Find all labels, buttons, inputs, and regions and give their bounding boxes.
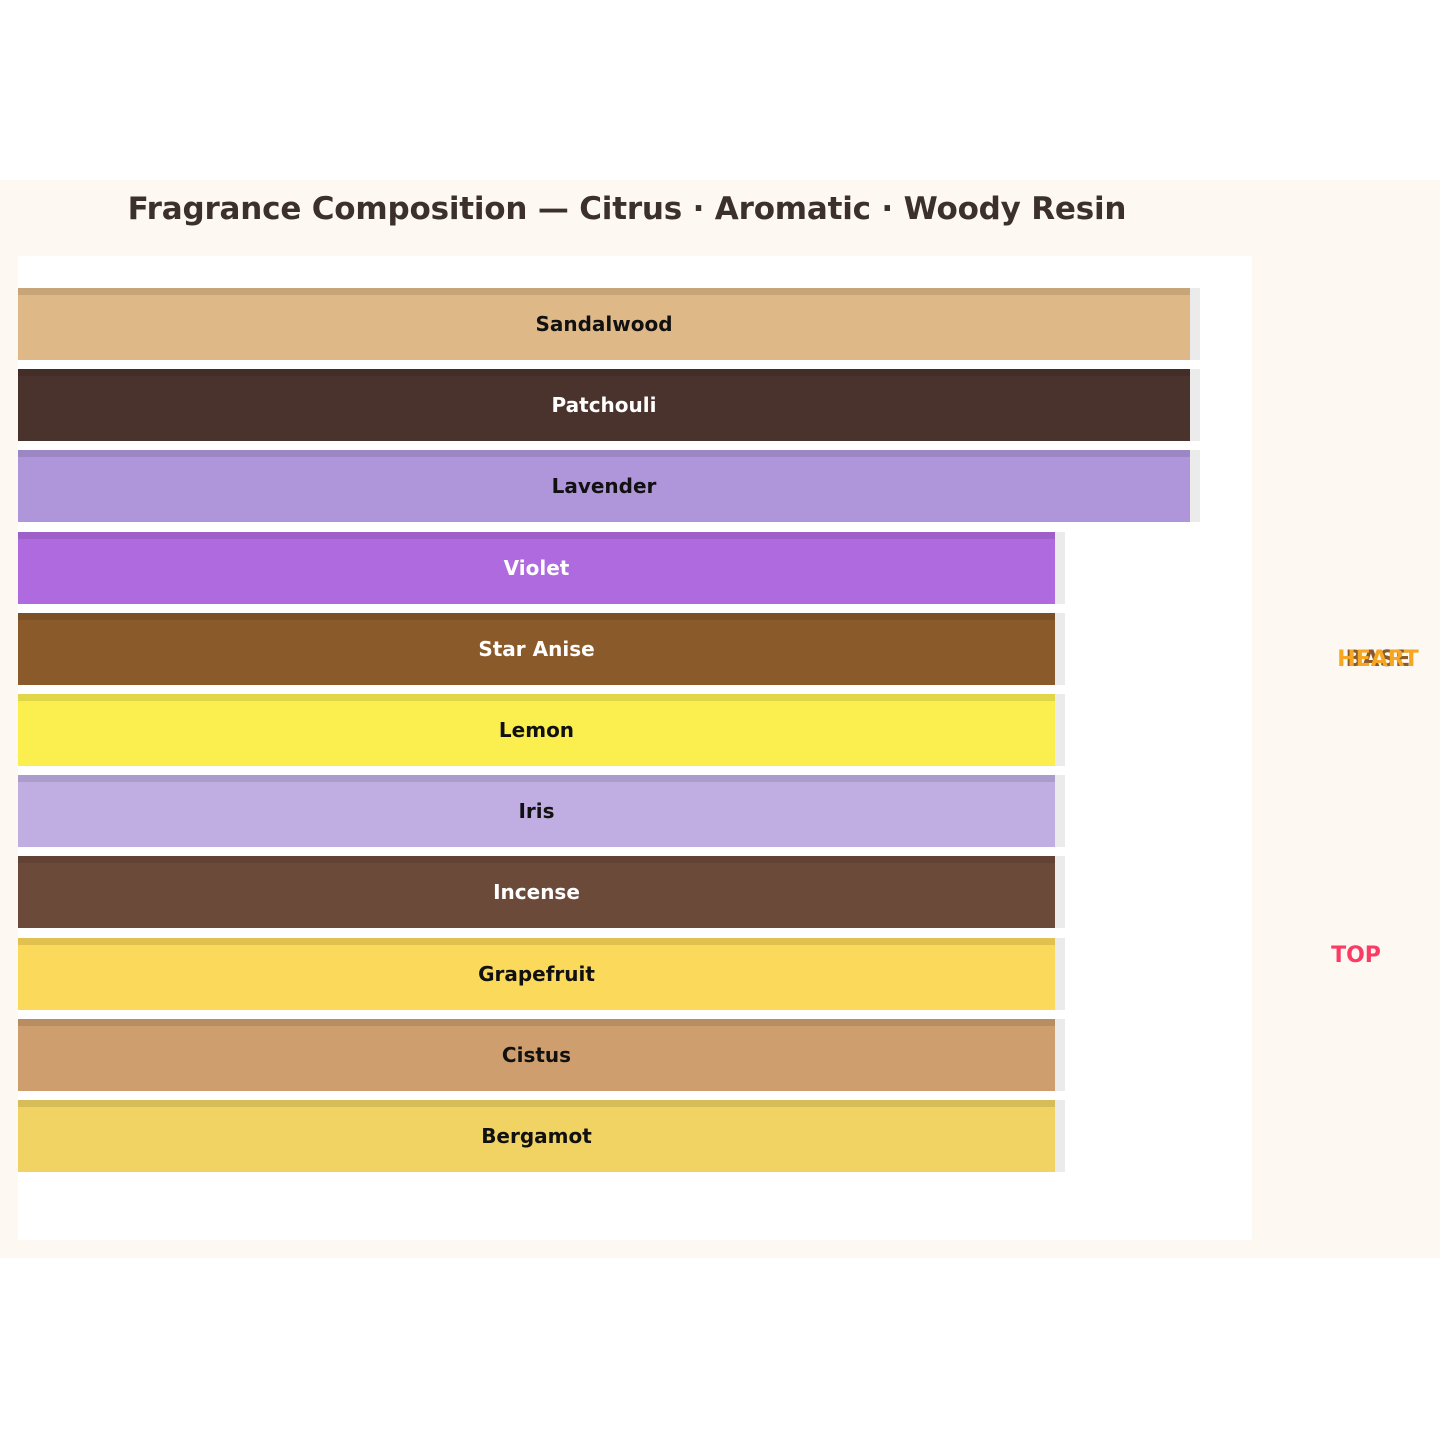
bar-cistus[interactable]	[18, 1019, 1055, 1091]
bar-row[interactable]: Bergamot	[18, 1100, 1252, 1172]
bar-top-shading	[18, 775, 1055, 782]
bar-patchouli[interactable]	[18, 369, 1190, 441]
bar-row[interactable]: Incense	[18, 856, 1252, 928]
figure-canvas: Fragrance Composition — Citrus · Aromati…	[0, 180, 1440, 1258]
note-label-top: TOP	[1276, 943, 1436, 968]
bar-top-shading	[18, 1019, 1055, 1026]
bar-top-shading	[18, 288, 1190, 295]
page-title: Fragrance Composition — Citrus · Aromati…	[0, 191, 1254, 227]
bar-row[interactable]: Cistus	[18, 1019, 1252, 1091]
plot-panel: SandalwoodPatchouliLavenderVioletStar An…	[18, 256, 1252, 1240]
bar-row[interactable]: Lavender	[18, 450, 1252, 522]
bar-top-shading	[18, 532, 1055, 539]
bar-row[interactable]: Violet	[18, 532, 1252, 604]
bar-lavender[interactable]	[18, 450, 1190, 522]
bar-row[interactable]: Star Anise	[18, 613, 1252, 685]
bar-row[interactable]: Grapefruit	[18, 938, 1252, 1010]
bar-bergamot[interactable]	[18, 1100, 1055, 1172]
bar-row[interactable]: Iris	[18, 775, 1252, 847]
bar-violet[interactable]	[18, 532, 1055, 604]
note-label-heart: HEART	[1298, 647, 1440, 672]
bar-lemon[interactable]	[18, 694, 1055, 766]
bar-incense[interactable]	[18, 856, 1055, 928]
bar-top-shading	[18, 613, 1055, 620]
bar-top-shading	[18, 694, 1055, 701]
bar-top-shading	[18, 450, 1190, 457]
bar-row[interactable]: Patchouli	[18, 369, 1252, 441]
bar-top-shading	[18, 856, 1055, 863]
bar-sandalwood[interactable]	[18, 288, 1190, 360]
bar-grapefruit[interactable]	[18, 938, 1055, 1010]
bar-top-shading	[18, 1100, 1055, 1107]
bar-star-anise[interactable]	[18, 613, 1055, 685]
bar-row[interactable]: Sandalwood	[18, 288, 1252, 360]
bar-top-shading	[18, 938, 1055, 945]
bar-iris[interactable]	[18, 775, 1055, 847]
bar-row[interactable]: Lemon	[18, 694, 1252, 766]
bar-top-shading	[18, 369, 1190, 376]
